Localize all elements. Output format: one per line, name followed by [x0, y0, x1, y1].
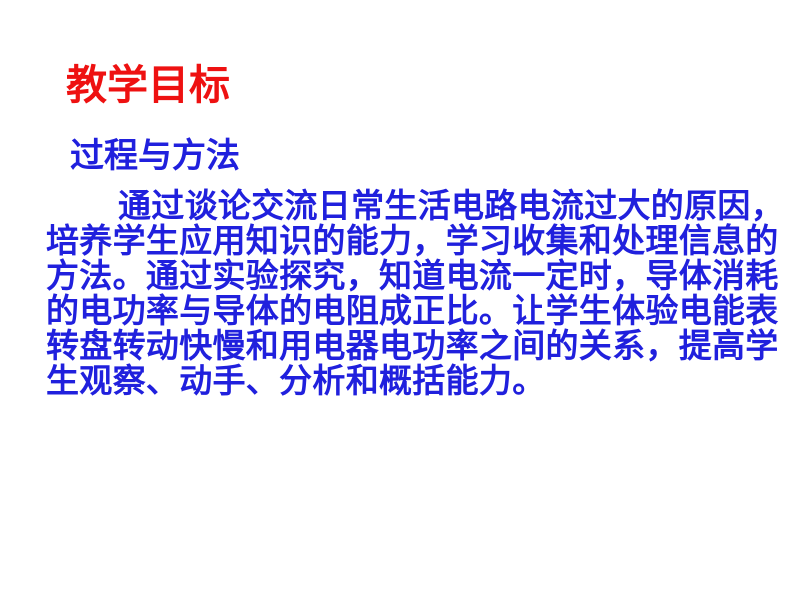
- body-line: 培养学生应用知识的能力，学习收集和处理信息的: [46, 223, 758, 258]
- body-text-block: 通过谈论交流日常生活电路电流过大的原因， 培养学生应用知识的能力，学习收集和处理…: [46, 188, 758, 398]
- body-line: 方法。通过实验探究，知道电流一定时，导体消耗: [46, 258, 758, 293]
- slide-subtitle: 过程与方法: [70, 136, 240, 176]
- body-line: 生观察、动手、分析和概括能力。: [46, 363, 758, 398]
- page-title: 教学目标: [66, 62, 230, 108]
- body-line: 转盘转动快慢和用电器电功率之间的关系，提高学: [46, 328, 758, 363]
- presentation-slide: 教学目标 过程与方法 通过谈论交流日常生活电路电流过大的原因， 培养学生应用知识…: [0, 0, 800, 600]
- body-line: 的电功率与导体的电阻成正比。让学生体验电能表: [46, 293, 758, 328]
- body-line: 通过谈论交流日常生活电路电流过大的原因，: [46, 188, 758, 223]
